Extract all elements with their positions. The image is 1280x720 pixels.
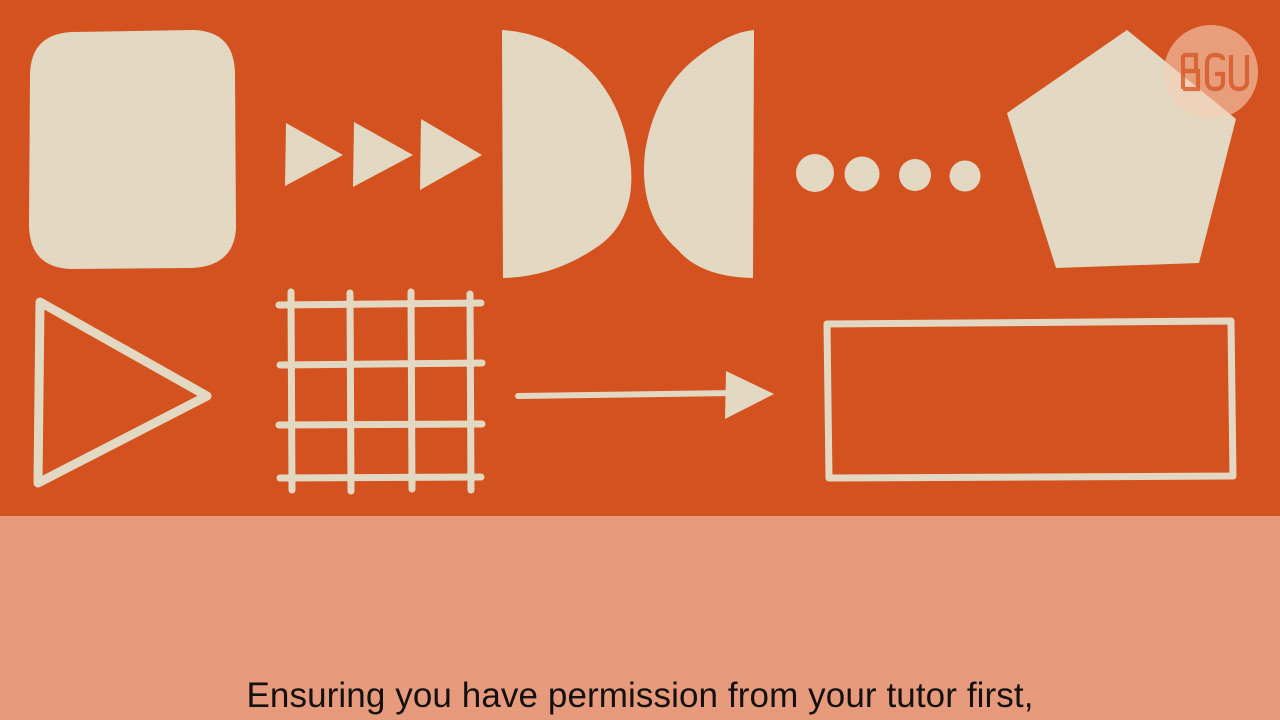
caption-band: Ensuring you have permission from your t… bbox=[0, 516, 1280, 720]
rounded-square-shape bbox=[29, 30, 236, 269]
dot-2-shape bbox=[845, 157, 880, 192]
geometric-artwork bbox=[0, 0, 1280, 516]
video-frame: Ensuring you have permission from your t… bbox=[0, 0, 1280, 720]
caption-line-1: Ensuring you have permission from your t… bbox=[0, 670, 1280, 720]
logo-circle bbox=[1164, 25, 1258, 119]
dot-3-shape bbox=[899, 159, 931, 191]
caption-text-block: Ensuring you have permission from your t… bbox=[0, 566, 1280, 720]
artwork-area bbox=[0, 0, 1280, 516]
dot-1-shape bbox=[796, 154, 834, 192]
dot-4-shape bbox=[950, 161, 981, 192]
bgu-logo-watermark bbox=[1163, 24, 1259, 120]
